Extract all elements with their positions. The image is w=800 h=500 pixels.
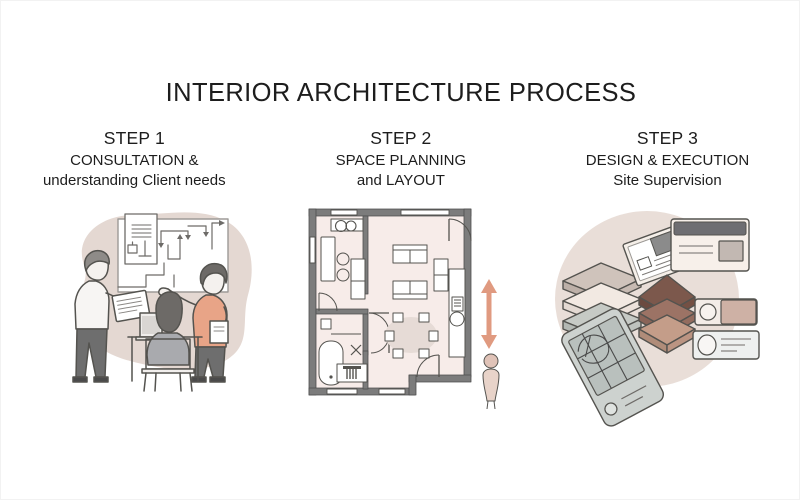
step-column-2: STEP 2 SPACE PLANNING and LAYOUT [268, 127, 535, 190]
step-column-3: STEP 3 DESIGN & EXECUTION Site Supervisi… [534, 127, 800, 190]
material-card-small-top [695, 299, 757, 325]
right-person-notepad [210, 321, 228, 343]
step-1-description: CONSULTATION & understanding Client need… [43, 151, 226, 190]
corridor-fixture [450, 297, 464, 326]
right-person-shoes [192, 377, 225, 382]
left-person-legs [76, 329, 107, 377]
step-column-1: STEP 1 CONSULTATION & understanding Clie… [1, 127, 268, 190]
corridor-unit [449, 269, 465, 357]
material-card-large [671, 219, 749, 271]
sofa-top [393, 245, 427, 263]
step-2-label: STEP 2 [370, 127, 431, 149]
left-person-body [75, 281, 109, 329]
step-1-desc-line-1: CONSULTATION & [43, 151, 226, 171]
step-3-desc-line-1: DESIGN & EXECUTION [586, 151, 749, 171]
consultation-illustration [56, 201, 271, 401]
left-person-shoes [73, 377, 108, 382]
step-2-description: SPACE PLANNING and LAYOUT [336, 151, 467, 190]
step-3-label: STEP 3 [637, 127, 698, 149]
seated-person-hair [156, 292, 182, 332]
step-1-desc-line-2: understanding Client needs [43, 171, 226, 191]
height-scale-arrow [481, 279, 497, 349]
kitchen-cabinet [351, 259, 365, 299]
floor-plan-illustration [297, 201, 527, 411]
human-scale-figure [483, 354, 499, 409]
materials-illustration [541, 201, 771, 401]
material-card-small-bottom [693, 331, 759, 359]
illustrations-row [1, 201, 800, 431]
bathroom-sink [321, 319, 331, 329]
sofa-bottom [393, 281, 427, 299]
kitchen-tall-unit [321, 237, 335, 281]
chair-seat [142, 369, 194, 373]
step-3-description: DESIGN & EXECUTION Site Supervision [586, 151, 749, 190]
seated-person-body [147, 333, 189, 365]
chair-legs [144, 373, 192, 391]
step-3-desc-line-2: Site Supervision [586, 171, 749, 191]
side-cabinet [434, 259, 448, 291]
bathtub-drain [329, 375, 332, 378]
page-title: INTERIOR ARCHITECTURE PROCESS [1, 79, 800, 108]
infographic-canvas: INTERIOR ARCHITECTURE PROCESS STEP 1 CON… [0, 0, 800, 500]
steps-row: STEP 1 CONSULTATION & understanding Clie… [1, 127, 800, 190]
step-2-desc-line-1: SPACE PLANNING [336, 151, 467, 171]
right-person-legs [195, 347, 225, 377]
step-2-desc-line-2: and LAYOUT [336, 171, 467, 191]
step-1-label: STEP 1 [104, 127, 165, 149]
